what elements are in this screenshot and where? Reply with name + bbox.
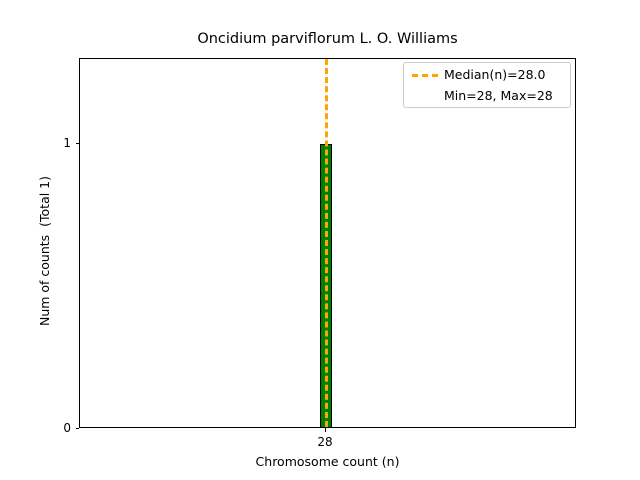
plot-axes <box>79 58 576 428</box>
legend: Median(n)=28.0 Min=28, Max=28 <box>403 62 571 108</box>
y-axis-label-wrapper: Num of counts (Total 1) <box>37 66 53 436</box>
legend-label-minmax: Min=28, Max=28 <box>444 88 566 104</box>
legend-entry-minmax: Min=28, Max=28 <box>404 86 572 106</box>
legend-dashed-line-icon <box>412 74 438 77</box>
plot-area <box>80 59 575 427</box>
page-title: Oncidium parviflorum L. O. Williams <box>79 30 576 48</box>
y-axis-label: Num of counts (Total 1) <box>37 66 53 436</box>
chart-figure: Oncidium parviflorum L. O. Williams 1 0 … <box>0 0 640 480</box>
x-tick-mark-28 <box>325 428 326 432</box>
median-line <box>325 59 328 427</box>
x-tick-label-28: 28 <box>295 435 355 449</box>
x-axis-label: Chromosome count (n) <box>79 454 576 469</box>
legend-entry-median: Median(n)=28.0 <box>404 65 572 85</box>
legend-label-median: Median(n)=28.0 <box>444 67 566 83</box>
y-tick-mark-0 <box>76 428 80 429</box>
